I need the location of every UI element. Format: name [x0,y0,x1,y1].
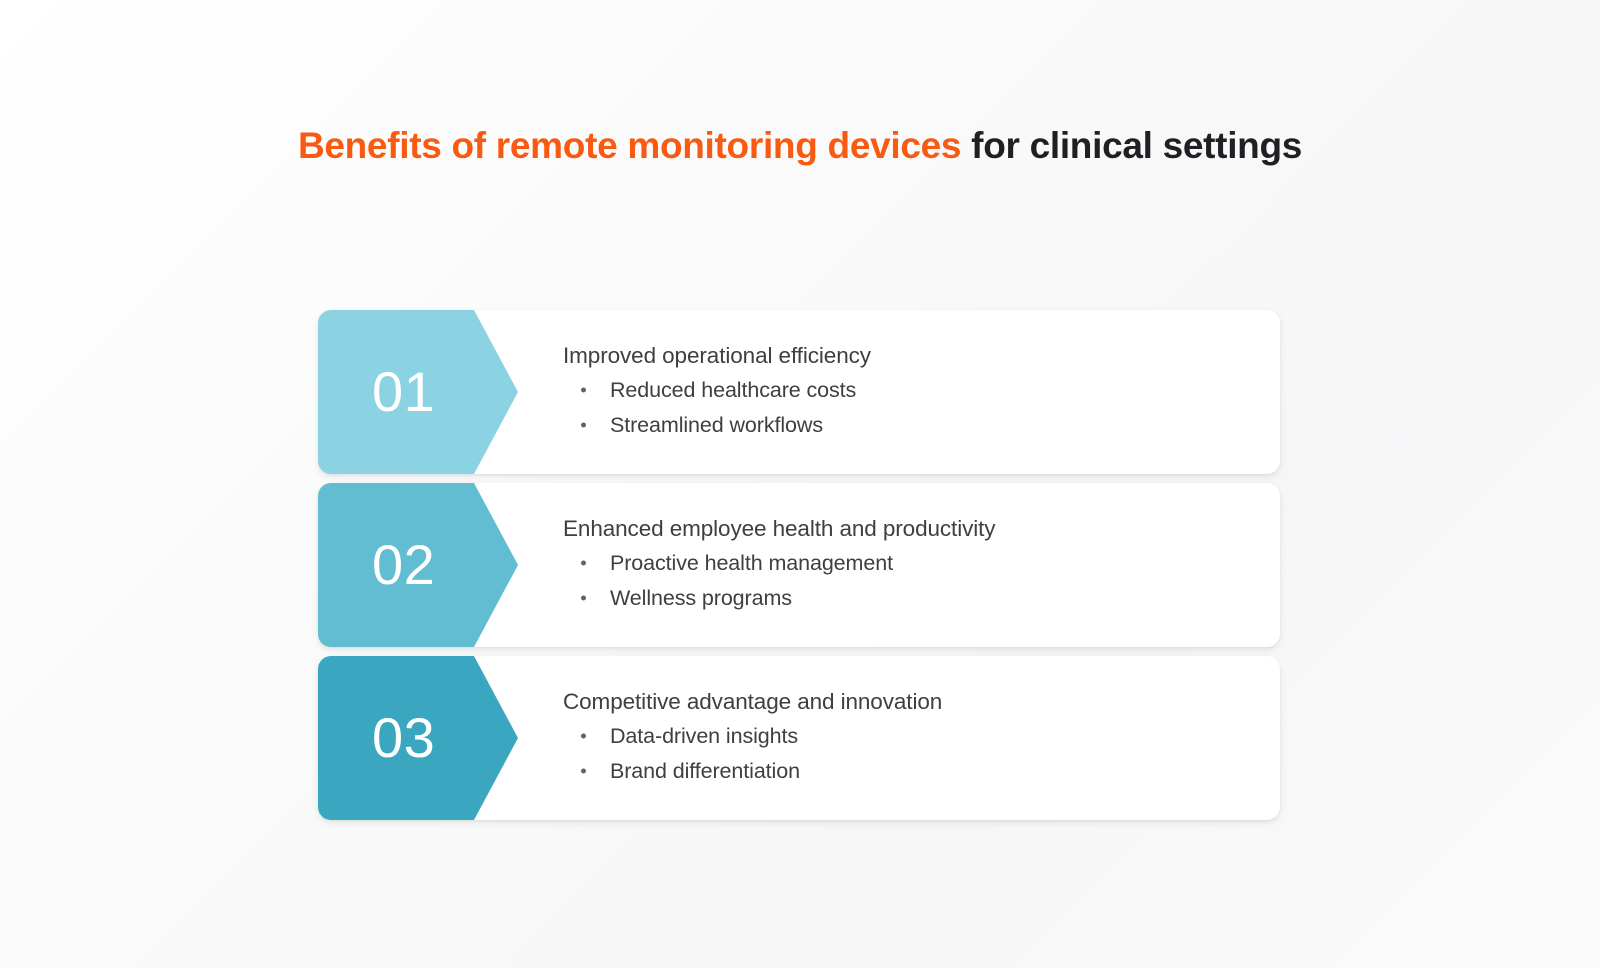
benefit-bullet-text: Data-driven insights [610,724,798,748]
benefit-bullet-text: Reduced healthcare costs [610,378,856,402]
benefit-bullet-item: Proactive health management [563,546,1260,581]
benefit-bullet-item: Reduced healthcare costs [563,373,1260,408]
benefit-bullet-item: Streamlined workflows [563,408,1260,443]
bullet-dot-icon [581,388,586,393]
page-title-rest: for clinical settings [961,125,1302,166]
benefit-card: 02 Enhanced employee health and producti… [318,483,1280,647]
benefit-number-badge: 01 [318,310,518,474]
benefit-content: Enhanced employee health and productivit… [563,483,1260,647]
benefit-heading: Enhanced employee health and productivit… [563,515,1260,543]
bullet-dot-icon [581,734,586,739]
benefit-bullet-item: Data-driven insights [563,719,1260,754]
benefit-bullet-list: Reduced healthcare costs Streamlined wor… [563,373,1260,443]
benefits-card-list: 01 Improved operational efficiency Reduc… [318,310,1280,820]
benefit-bullet-list: Proactive health management Wellness pro… [563,546,1260,616]
benefit-content: Competitive advantage and innovation Dat… [563,656,1260,820]
benefit-bullet-text: Brand differentiation [610,759,800,783]
bullet-dot-icon [581,561,586,566]
benefit-content: Improved operational efficiency Reduced … [563,310,1260,474]
benefit-number: 02 [318,537,435,593]
bullet-dot-icon [581,595,586,600]
benefit-bullet-text: Proactive health management [610,551,893,575]
benefit-bullet-list: Data-driven insights Brand differentiati… [563,719,1260,789]
page-title: Benefits of remote monitoring devices fo… [0,124,1600,168]
benefit-bullet-item: Brand differentiation [563,754,1260,789]
page-title-accent: Benefits of remote monitoring devices [298,125,961,166]
benefit-bullet-item: Wellness programs [563,581,1260,616]
benefit-card: 01 Improved operational efficiency Reduc… [318,310,1280,474]
benefit-number-badge: 02 [318,483,518,647]
benefit-card: 03 Competitive advantage and innovation … [318,656,1280,820]
benefit-bullet-text: Wellness programs [610,586,792,610]
benefit-heading: Improved operational efficiency [563,342,1260,370]
page-title-text: Benefits of remote monitoring devices fo… [298,124,1302,168]
bullet-dot-icon [581,768,586,773]
benefit-number: 03 [318,710,435,766]
benefit-bullet-text: Streamlined workflows [610,413,823,437]
bullet-dot-icon [581,422,586,427]
benefit-number-badge: 03 [318,656,518,820]
benefit-number: 01 [318,364,435,420]
benefit-heading: Competitive advantage and innovation [563,688,1260,716]
